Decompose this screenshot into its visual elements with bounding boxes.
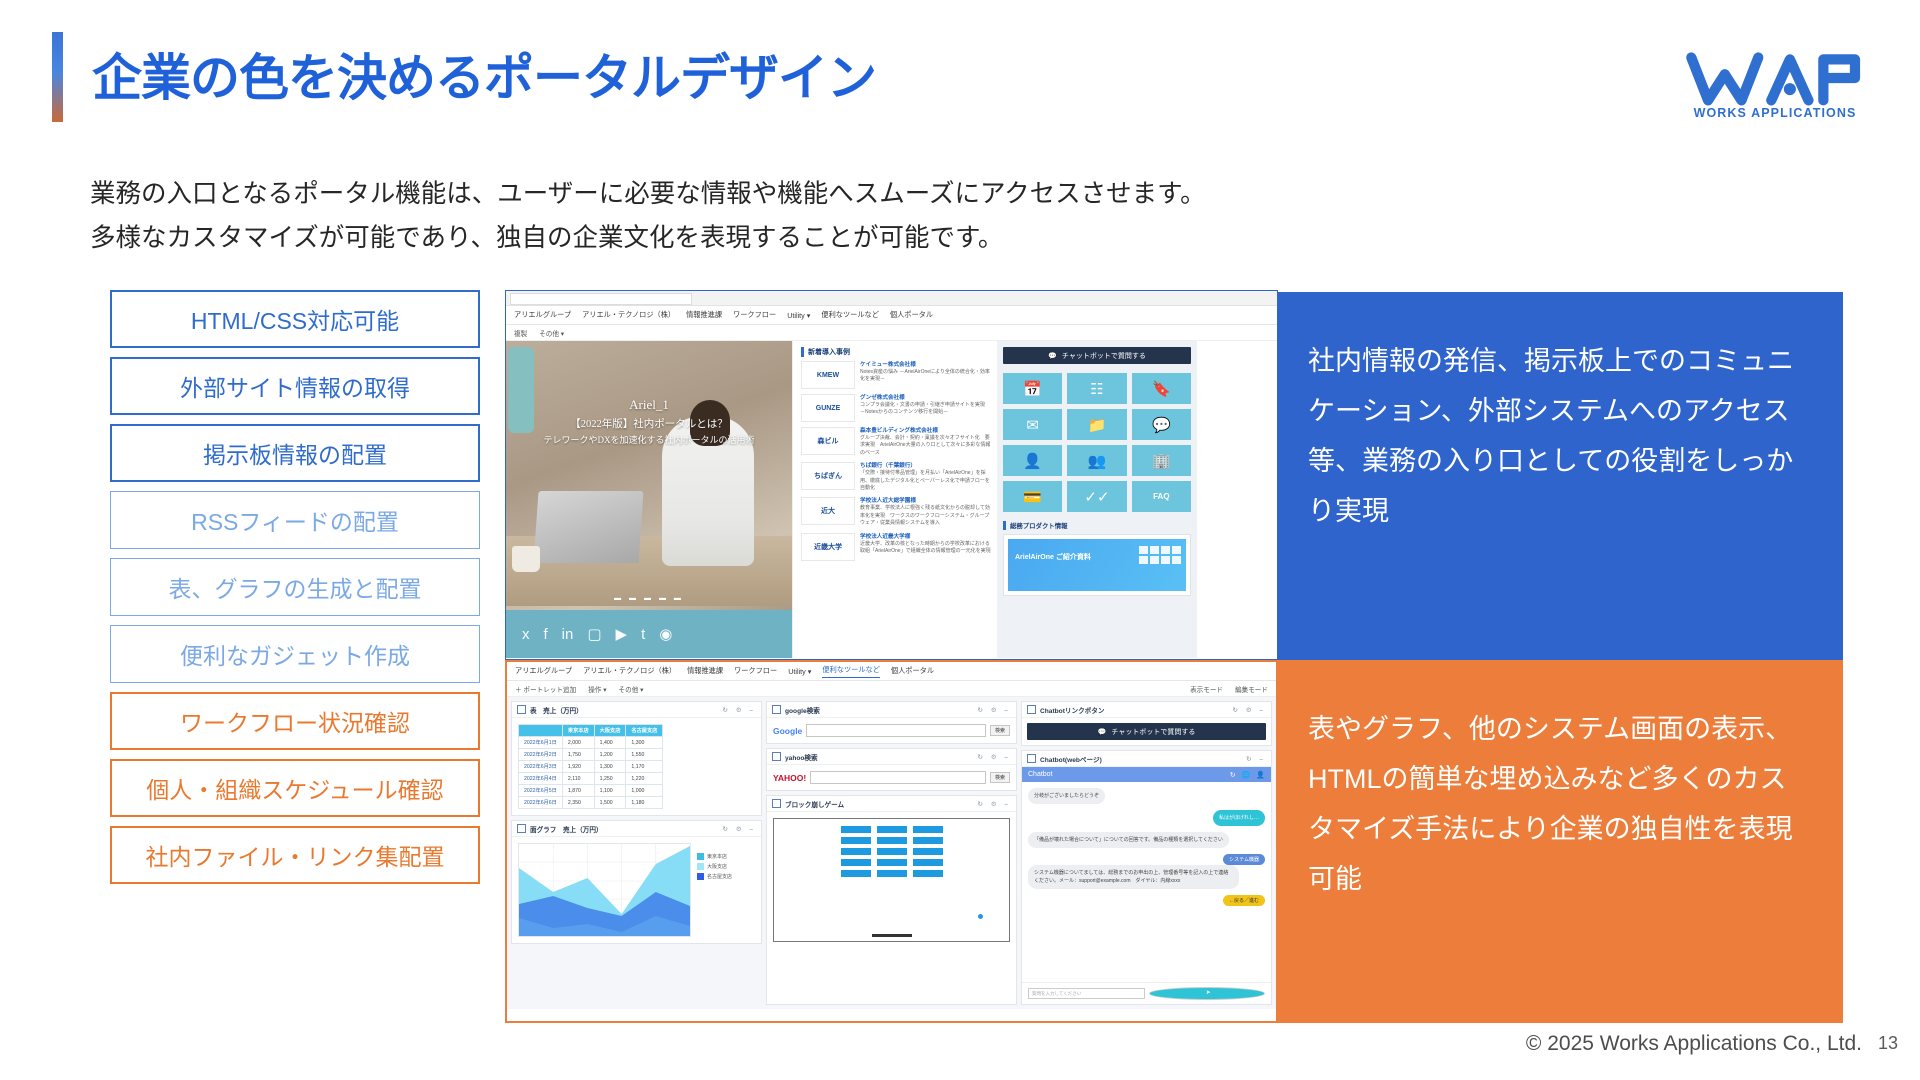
portlet-header: Chatbotリンクボタン ↻ ⚙ – — [1022, 702, 1271, 718]
feature-chip-gadget[interactable]: 便利なガジェット作成 — [110, 625, 480, 683]
legend-swatch — [697, 853, 704, 860]
tumblr-icon[interactable]: t — [641, 626, 645, 643]
table-row: 2022年6月6日2,3501,5001,180 — [519, 797, 663, 809]
game-ball — [978, 914, 983, 919]
cell-date: 2022年6月5日 — [519, 785, 563, 797]
company-logo: KMEW — [801, 361, 855, 389]
feature-chip-table-graph[interactable]: 表、グラフの生成と配置 — [110, 558, 480, 616]
quick-reply-button[interactable]: システム機器 — [1223, 854, 1265, 865]
legend-swatch — [697, 873, 704, 880]
google-search-input[interactable] — [806, 724, 986, 737]
cell-tokyo: 1,920 — [562, 761, 594, 773]
chatbot-banner-button[interactable]: 💬 チャットボットで質問する — [1003, 347, 1191, 364]
nav-item-utility[interactable]: Utility ▾ — [788, 667, 811, 676]
google-search-button[interactable]: 検索 — [990, 725, 1010, 736]
chart-icon — [517, 824, 526, 833]
cell-tokyo: 2,350 — [562, 797, 594, 809]
building-icon[interactable]: 🏢 — [1132, 445, 1191, 476]
portlet-grid: 表 売上（万円） ↻ ⚙ – 東京本店 大阪支店 名古屋支店 2022年6月1日… — [507, 697, 1276, 1009]
nav-item-info-dept[interactable]: 情報推進課 — [687, 666, 723, 676]
legend-label: 大阪支店 — [707, 863, 727, 870]
yahoo-search-portlet[interactable]: yahoo検索 ↻ ⚙ – YAHOO! 検索 — [766, 748, 1017, 791]
portlet-actions[interactable]: ↻ ⚙ – — [722, 825, 756, 833]
table-header-row: 東京本店 大阪支店 名古屋支店 — [519, 725, 663, 737]
news-body: コンプラ会議化・文書の申請・引継ぎ申請サイトを実現 －Notesからのコンテンツ… — [860, 402, 991, 417]
brick-row — [841, 848, 943, 855]
portlet-title: google検索 — [785, 705, 820, 715]
add-portlet-button[interactable]: ＋ ポートレット追加 — [515, 684, 576, 694]
news-body: Notes資産の悩み －ArielAirOneにより全体の統合化・効率化を実現－ — [860, 369, 991, 384]
other-menu[interactable]: その他 ▾ — [619, 684, 644, 694]
chart-area: 東京本店 大阪支店 名古屋支店 — [512, 837, 761, 943]
news-title[interactable]: 学校法人近畿大学様 — [860, 533, 991, 541]
chatbot-message-list: 分岐がございましたらどうぞ 私はがほげれし… 「備品が壊れた場合について」につい… — [1022, 782, 1271, 982]
brick-row — [841, 826, 943, 833]
mail-icon[interactable]: ✉ — [1003, 409, 1062, 440]
cell-osaka: 1,250 — [594, 773, 626, 785]
feature-chip-workflow[interactable]: ワークフロー状況確認 — [110, 692, 480, 750]
link-icon — [1027, 705, 1036, 714]
portal-nav[interactable]: アリエルグループ アリエル・テクノロジ（株） 情報推進課 ワークフロー Util… — [506, 306, 1277, 325]
cell-nagoya: 1,300 — [626, 737, 663, 749]
carousel-dots[interactable]: ▬ ▬ ▬ ▬ ▬ — [506, 595, 792, 602]
feature-chip-rss-feed[interactable]: RSSフィードの配置 — [110, 491, 480, 549]
wap-logo-subtitle: WORKS APPLICATIONS — [1682, 106, 1868, 120]
portlet-title: Chatbotリンクボタン — [1040, 705, 1104, 715]
webpage-icon — [1027, 754, 1036, 763]
table-icon — [517, 705, 526, 714]
chatbot-icon: 💬 — [1098, 728, 1107, 736]
yahoo-search-input[interactable] — [810, 771, 986, 784]
hero-banner[interactable]: Ariel_1 【2022年版】社内ポータルとは？ テレワークやDXを加速化する… — [506, 341, 792, 658]
lede-line-1: 業務の入口となるポータル機能は、ユーザーに必要な情報や機能へスムーズにアクセスさ… — [90, 172, 1590, 216]
operation-menu[interactable]: 操作 ▾ — [588, 684, 606, 694]
youtube-icon[interactable]: ▶ — [616, 625, 628, 643]
cell-nagoya: 1,000 — [626, 785, 663, 797]
news-body: 「交際・接待付帯品管理」を月払い「ArielAirOne」を採用、徹底したデジタ… — [860, 470, 991, 492]
nav-item-personal-portal[interactable]: 個人ポータル — [890, 310, 933, 320]
table-row: 2022年6月4日2,1101,2501,220 — [519, 773, 663, 785]
portlet-title: 面グラフ 売上（万円） — [530, 824, 603, 834]
page-number: 13 — [1878, 1033, 1898, 1054]
nav-item-personal-portal[interactable]: 個人ポータル — [891, 666, 934, 676]
chatbot-window-title: Chatbot — [1028, 771, 1053, 778]
cell-date: 2022年6月3日 — [519, 761, 563, 773]
news-title[interactable]: ケイミュー株式会社様 — [860, 361, 991, 369]
cell-tokyo: 1,870 — [562, 785, 594, 797]
news-body: グループ決裁、会計・契約・稟議を次々オフサイト化 要求実現 ArielAirOn… — [860, 435, 991, 457]
google-search-portlet[interactable]: google検索 ↻ ⚙ – Google 検索 — [766, 701, 1017, 744]
portlet-actions[interactable]: ↻ ⚙ – — [1232, 706, 1266, 714]
game-paddle[interactable] — [872, 934, 912, 937]
portal-screenshot-bottom[interactable]: アリエルグループ アリエル・テクノロジ（株） 情報推進課 ワークフロー Util… — [505, 660, 1278, 1023]
cell-nagoya: 1,550 — [626, 749, 663, 761]
orange-description-panel: 表やグラフ、他のシステム画面の表示、HTMLの簡単な埋め込みなど多くのカスタマイ… — [1278, 660, 1843, 1023]
table-row: 2022年6月2日1,7501,2001,550 — [519, 749, 663, 761]
id-card-icon[interactable]: 💳 — [1003, 481, 1062, 512]
legend-label: 東京本店 — [707, 853, 727, 860]
globe-icon[interactable]: 🌐 — [1242, 771, 1251, 779]
bot-message: 「備品が壊れた場合について」についての回答です。備品の種類を選択してください — [1028, 832, 1229, 848]
google-search-row[interactable]: Google 検索 — [767, 718, 1016, 743]
news-item[interactable]: 森ビル 森本豊ビルディング株式会社様グループ決裁、会計・契約・稟議を次々オフサイ… — [801, 427, 991, 457]
col-header-tokyo: 東京本店 — [562, 725, 594, 737]
col-header-blank — [519, 725, 563, 737]
nav-item-group[interactable]: アリエルグループ — [515, 666, 572, 676]
news-item[interactable]: KMEW ケイミュー株式会社様Notes資産の悩み －ArielAirOneによ… — [801, 361, 991, 389]
mug-decoration — [512, 546, 540, 572]
news-item[interactable]: 近畿大学 学校法人近畿大学様近畿大学、改革の核となった時期からの学校改革における… — [801, 533, 991, 561]
portlet-header: google検索 ↻ ⚙ – — [767, 702, 1016, 718]
dribbble-icon[interactable]: ◉ — [659, 625, 672, 643]
bot-message: システム機器についてましては、総務までのお申出の上、管理番号等を記入の上で連絡く… — [1028, 865, 1239, 889]
subnav-copy[interactable]: 複製 — [514, 328, 527, 338]
yahoo-search-button[interactable]: 検索 — [990, 772, 1010, 783]
chatbot-link-label: チャットボットで質問する — [1111, 727, 1195, 737]
user-icon[interactable]: 👤 — [1256, 771, 1265, 779]
table-row: 2022年6月3日1,9201,3001,170 — [519, 761, 663, 773]
chat-bubble-icon[interactable]: 💬 — [1132, 409, 1191, 440]
org-chart-icon[interactable]: ☷ — [1067, 373, 1126, 404]
feature-chip-schedule[interactable]: 個人・組織スケジュール確認 — [110, 759, 480, 817]
nav-item-workflow[interactable]: ワークフロー — [734, 666, 777, 676]
chatbot-window-header: Chatbot ↻ 🌐 👤 — [1022, 767, 1271, 782]
company-logo: 近畿大学 — [801, 533, 855, 561]
portlet-header: 面グラフ 売上（万円） ↻ ⚙ – — [512, 821, 761, 837]
nav-item-group[interactable]: アリエルグループ — [514, 310, 571, 320]
page-title: 企業の色を決めるポータルデザイン — [92, 38, 876, 110]
product-info-card[interactable]: ArielAirOne ご紹介資料 — [1003, 534, 1191, 596]
portlet-toolbar[interactable]: ＋ ポートレット追加 操作 ▾ その他 ▾ 表示モード 編集モード — [507, 681, 1276, 697]
portlet-title: ブロック崩しゲーム — [785, 799, 844, 809]
cell-osaka: 1,300 — [594, 761, 626, 773]
col-header-nagoya: 名古屋支店 — [626, 725, 663, 737]
game-icon — [772, 799, 781, 808]
breakout-game-portlet[interactable]: ブロック崩しゲーム ↻ ⚙ – — [766, 795, 1017, 1005]
news-body: 教育事業、学校法人に根強く残る紙文化からの脱却して効率化を実現 ワークスのワーク… — [860, 505, 991, 527]
nav-item-tools[interactable]: 便利なツールなど — [821, 310, 879, 320]
bookmark-icon[interactable]: 🔖 — [1132, 373, 1191, 404]
portal-nav-bottom[interactable]: アリエルグループ アリエル・テクノロジ（株） 情報推進課 ワークフロー Util… — [507, 662, 1276, 681]
quick-link-icon-grid: 📅 ☷ 🔖 ✉ 📁 💬 👤 👥 🏢 💳 ✓✓ FAQ — [1003, 373, 1191, 512]
portal-screenshot-top[interactable]: アリエルグループ アリエル・テクノロジ（株） 情報推進課 ワークフロー Util… — [505, 290, 1278, 660]
cell-nagoya: 1,220 — [626, 773, 663, 785]
gadget-icon — [772, 705, 781, 714]
refresh-icon[interactable]: ↻ — [1230, 771, 1236, 779]
news-body: 近畿大学、改革の核となった時期からの学校改革における取組「ArielAirOne… — [860, 541, 991, 556]
copyright-text: © 2025 Works Applications Co., Ltd. — [1526, 1032, 1862, 1056]
brick-row — [841, 837, 943, 844]
portlet-column-2: google検索 ↻ ⚙ – Google 検索 yahoo検索 ↻ ⚙ – Y… — [766, 701, 1017, 1005]
product-info-heading: 総務プロダクト情報 — [1003, 521, 1191, 530]
news-title[interactable]: 森本豊ビルディング株式会社様 — [860, 427, 991, 435]
area-chart — [518, 843, 691, 937]
social-icon-bar[interactable]: x f in ▢ ▶ t ◉ — [506, 610, 792, 658]
bot-message: 分岐がございましたらどうぞ — [1028, 788, 1105, 804]
folder-icon[interactable]: 📁 — [1067, 409, 1126, 440]
double-check-icon[interactable]: ✓✓ — [1067, 481, 1126, 512]
browser-tab[interactable] — [510, 293, 692, 305]
feature-chip-file-links[interactable]: 社内ファイル・リンク集配置 — [110, 826, 480, 884]
product-banner-title: ArielAirOne ご紹介資料 — [1015, 553, 1091, 563]
chatbot-web-portlet[interactable]: Chatbot(webページ) ↻ – Chatbot ↻ 🌐 👤 分岐がござい… — [1021, 750, 1272, 1005]
portlet-column-1: 表 売上（万円） ↻ ⚙ – 東京本店 大阪支店 名古屋支店 2022年6月1日… — [511, 701, 762, 1005]
news-item[interactable]: ちばぎん ちば銀行（千葉銀行）「交際・接待付帯品管理」を月払い「ArielAir… — [801, 462, 991, 492]
brick-row — [841, 859, 943, 866]
portlet-header: ブロック崩しゲーム ↻ ⚙ – — [767, 796, 1016, 812]
chatbot-link-button[interactable]: 💬 チャットボットで質問する — [1027, 723, 1266, 740]
chatbot-window-actions[interactable]: ↻ 🌐 👤 — [1230, 771, 1265, 779]
cell-date: 2022年6月6日 — [519, 797, 563, 809]
back-forward-button[interactable]: ←戻る／進む — [1223, 895, 1265, 906]
user-message: 私はがほげれし… — [1213, 810, 1265, 826]
cell-osaka: 1,100 — [594, 785, 626, 797]
edit-mode-button[interactable]: 編集モード — [1235, 684, 1268, 694]
browser-window-bar — [506, 291, 1277, 306]
product-banner-icons — [1139, 546, 1181, 564]
breakout-game-canvas[interactable] — [773, 818, 1010, 942]
cell-tokyo: 1,750 — [562, 749, 594, 761]
portlet-actions[interactable]: ↻ ⚙ – — [977, 706, 1011, 714]
news-item[interactable]: GUNZE グンゼ株式会社様コンプラ会議化・文書の申請・引継ぎ申請サイトを実現 … — [801, 394, 991, 422]
brick-row — [841, 870, 943, 877]
yahoo-search-row[interactable]: YAHOO! 検索 — [767, 765, 1016, 790]
company-logo: ちばぎん — [801, 462, 855, 490]
news-item[interactable]: 近大 学校法人近大総学園様教育事業、学校法人に根強く残る紙文化からの脱却して効率… — [801, 497, 991, 527]
cell-osaka: 1,500 — [594, 797, 626, 809]
address-book-icon[interactable]: 👤 — [1003, 445, 1062, 476]
nav-item-technology[interactable]: アリエル・テクノロジ（株） — [583, 666, 676, 676]
chatbot-banner-label: チャットボットで質問する — [1062, 351, 1146, 361]
cell-osaka: 1,200 — [594, 749, 626, 761]
nav-item-tools[interactable]: 便利なツールなど — [822, 665, 880, 678]
linkedin-icon[interactable]: in — [562, 626, 574, 643]
table-row: 2022年6月5日1,8701,1001,000 — [519, 785, 663, 797]
google-logo: Google — [773, 726, 802, 736]
feature-chip-bulletin-board[interactable]: 掲示板情報の配置 — [110, 424, 480, 482]
news-panel: 新着導入事例 KMEW ケイミュー株式会社様Notes資産の悩み －ArielA… — [792, 341, 997, 658]
laptop-decoration — [533, 491, 643, 563]
nav-item-workflow[interactable]: ワークフロー — [733, 310, 776, 320]
company-logo: GUNZE — [801, 394, 855, 422]
calendar-clock-icon[interactable]: 📅 — [1003, 373, 1062, 404]
portlet-header: Chatbot(webページ) ↻ – — [1022, 751, 1271, 767]
instagram-icon[interactable]: ▢ — [587, 625, 601, 643]
col-header-osaka: 大阪支店 — [594, 725, 626, 737]
cell-date: 2022年6月2日 — [519, 749, 563, 761]
portlet-actions[interactable]: ↻ ⚙ – — [977, 800, 1011, 808]
chatbot-input-row[interactable]: 質問を入力してください ➤ — [1022, 982, 1271, 1004]
hero-subtitle-2: テレワークやDXを加速化する社内ポータルの活用術 — [506, 433, 792, 446]
sales-area-chart-portlet[interactable]: 面グラフ 売上（万円） ↻ ⚙ – — [511, 820, 762, 944]
news-heading: 新着導入事例 — [801, 347, 991, 357]
view-mode-button[interactable]: 表示モード — [1190, 684, 1223, 694]
feature-chip-list: HTML/CSS対応可能 外部サイト情報の取得 掲示板情報の配置 RSSフィード… — [110, 290, 480, 893]
lede-paragraph: 業務の入口となるポータル機能は、ユーザーに必要な情報や機能へスムーズにアクセスさ… — [90, 172, 1590, 260]
portal-subnav[interactable]: 複製 その他 ▾ — [506, 325, 1277, 341]
legend-swatch — [697, 863, 704, 870]
cell-nagoya: 1,170 — [626, 761, 663, 773]
chart-legend: 東京本店 大阪支店 名古屋支店 — [697, 843, 755, 937]
portlet-title: yahoo検索 — [785, 752, 818, 762]
news-title[interactable]: グンゼ株式会社様 — [860, 394, 991, 402]
twitter-icon[interactable]: x — [522, 626, 530, 643]
wap-logo — [1682, 44, 1868, 112]
chatbot-link-portlet[interactable]: Chatbotリンクボタン ↻ ⚙ – 💬 チャットボットで質問する — [1021, 701, 1272, 746]
portlet-actions[interactable]: ↻ – — [1246, 755, 1266, 763]
cell-osaka: 1,400 — [594, 737, 626, 749]
nav-item-utility[interactable]: Utility ▾ — [787, 311, 810, 320]
hero-text: Ariel_1 【2022年版】社内ポータルとは？ テレワークやDXを加速化する… — [506, 397, 792, 446]
nav-item-info-dept[interactable]: 情報推進課 — [686, 310, 722, 320]
portal-gadget-column: 💬 チャットボットで質問する 📅 ☷ 🔖 ✉ 📁 💬 👤 👥 🏢 💳 ✓✓ FA… — [997, 341, 1197, 658]
company-logo: 近大 — [801, 497, 855, 525]
table-row: 2022年6月1日2,0001,4001,300 — [519, 737, 663, 749]
sales-table-portlet[interactable]: 表 売上（万円） ↻ ⚙ – 東京本店 大阪支店 名古屋支店 2022年6月1日… — [511, 701, 762, 816]
portlet-title: Chatbot(webページ) — [1040, 754, 1102, 764]
lede-line-2: 多様なカスタマイズが可能であり、独自の企業文化を表現することが可能です。 — [90, 216, 1590, 260]
portlet-header: 表 売上（万円） ↻ ⚙ – — [512, 702, 761, 718]
nav-item-technology[interactable]: アリエル・テクノロジ（株） — [582, 310, 675, 320]
company-logo: 森ビル — [801, 427, 855, 455]
portlet-actions[interactable]: ↻ ⚙ – — [722, 706, 756, 714]
portlet-actions[interactable]: ↻ ⚙ – — [977, 753, 1011, 761]
cell-tokyo: 2,000 — [562, 737, 594, 749]
facebook-icon[interactable]: f — [544, 626, 548, 643]
hero-subtitle-1: 【2022年版】社内ポータルとは？ — [506, 416, 792, 431]
cell-date: 2022年6月4日 — [519, 773, 563, 785]
send-icon[interactable]: ➤ — [1149, 987, 1266, 1000]
subnav-other[interactable]: その他 ▾ — [539, 328, 564, 338]
chatbot-text-input[interactable]: 質問を入力してください — [1028, 988, 1145, 999]
cell-nagoya: 1,180 — [626, 797, 663, 809]
product-banner: ArielAirOne ご紹介資料 — [1008, 539, 1186, 591]
feature-chip-html-css[interactable]: HTML/CSS対応可能 — [110, 290, 480, 348]
legend-item: 大阪支店 — [697, 863, 755, 870]
cell-date: 2022年6月1日 — [519, 737, 563, 749]
portlet-title: 表 売上（万円） — [530, 705, 583, 715]
hero-title: Ariel_1 — [506, 397, 792, 413]
legend-item: 名古屋支店 — [697, 873, 755, 880]
sales-table: 東京本店 大阪支店 名古屋支店 2022年6月1日2,0001,4001,300… — [518, 724, 663, 809]
title-accent-bar — [52, 32, 63, 122]
feature-chip-external-site[interactable]: 外部サイト情報の取得 — [110, 357, 480, 415]
legend-label: 名古屋支店 — [707, 873, 732, 880]
portal-top-body: Ariel_1 【2022年版】社内ポータルとは？ テレワークやDXを加速化する… — [506, 341, 1277, 658]
portlet-header: yahoo検索 ↻ ⚙ – — [767, 749, 1016, 765]
faq-icon[interactable]: FAQ — [1132, 481, 1191, 512]
meeting-icon[interactable]: 👥 — [1067, 445, 1126, 476]
cell-tokyo: 2,110 — [562, 773, 594, 785]
legend-item: 東京本店 — [697, 853, 755, 860]
gadget-icon — [772, 752, 781, 761]
chatbot-icon: 💬 — [1048, 352, 1057, 360]
blue-description-panel: 社内情報の発信、掲示板上でのコミュニケーション、外部システムへのアクセス等、業務… — [1278, 292, 1843, 660]
yahoo-logo: YAHOO! — [773, 773, 806, 783]
portlet-column-3: Chatbotリンクボタン ↻ ⚙ – 💬 チャットボットで質問する Chatb… — [1021, 701, 1272, 1005]
